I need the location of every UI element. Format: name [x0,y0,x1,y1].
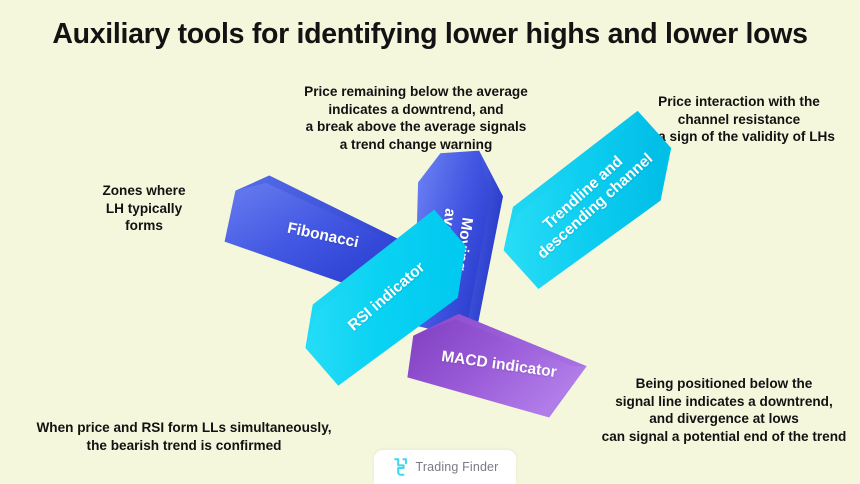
arrow-macd-shape [404,306,593,424]
infographic-canvas: Auxiliary tools for identifying lower hi… [0,0,860,484]
trading-finder-logo-icon [392,458,409,477]
arrow-macd[interactable]: MACD indicator [404,306,593,424]
note-macd: Being positioned below the signal line i… [588,375,860,446]
note-fibonacci: Zones where LH typically forms [66,182,222,235]
brand-card: Trading Finder [374,450,516,484]
note-rsi: When price and RSI form LLs simultaneous… [2,419,366,454]
brand-name: Trading Finder [416,460,499,474]
note-moving-averages: Price remaining below the average indica… [268,83,564,154]
page-title: Auxiliary tools for identifying lower hi… [0,18,860,51]
